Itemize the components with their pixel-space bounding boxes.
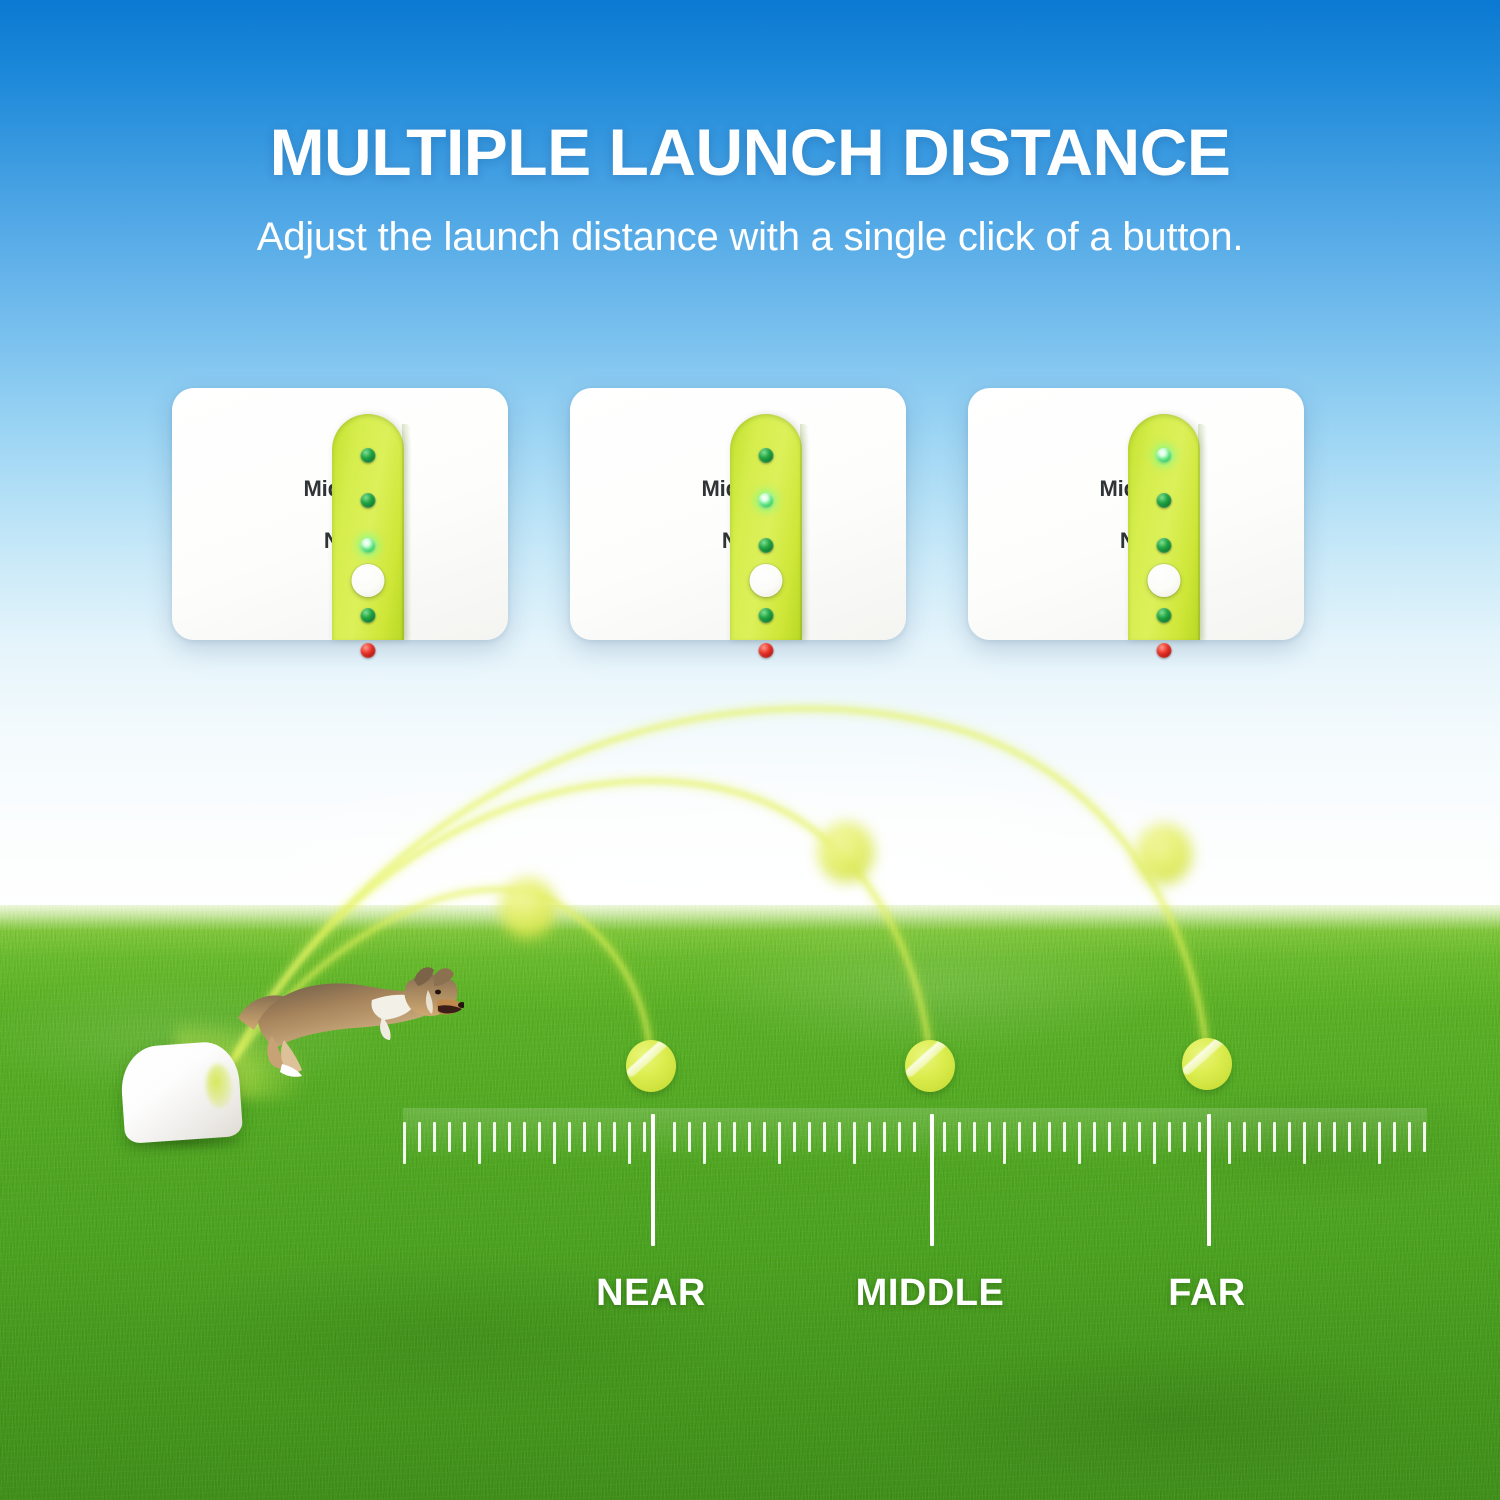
ruler-tick [883, 1122, 886, 1152]
ruler-tick [988, 1122, 991, 1152]
ruler-tick [703, 1122, 706, 1164]
distance-ruler: {"count":69,"step":15,"major":[17,35,54]… [403, 1108, 1427, 1248]
ball-in-flight-far [1136, 824, 1192, 884]
led-middle-indicator [361, 493, 376, 508]
led-strip [332, 414, 404, 640]
distance-label-middle: MIDDLE [856, 1272, 1005, 1315]
ruler-tick [973, 1122, 976, 1152]
ruler-major-tick [930, 1114, 934, 1246]
led-strip [1128, 414, 1200, 640]
landed-ball-middle [905, 1040, 955, 1092]
ruler-major-tick [1207, 1114, 1211, 1246]
ruler-tick [1228, 1122, 1231, 1164]
ruler-tick [1093, 1122, 1096, 1152]
ruler-tick [628, 1122, 631, 1164]
ruler-tick [778, 1122, 781, 1164]
ruler-tick [1018, 1122, 1021, 1152]
setting-cards-row: Far Middle Near Far Middle Near [172, 388, 1304, 640]
ruler-tick [853, 1122, 856, 1164]
ruler-tick [1108, 1122, 1111, 1152]
led-status-indicator [361, 608, 376, 623]
ruler-tick [583, 1122, 586, 1152]
led-far-indicator [1157, 448, 1172, 463]
landed-ball-far [1182, 1038, 1232, 1090]
ruler-tick [1078, 1122, 1081, 1164]
ruler-tick [523, 1122, 526, 1152]
ruler-tick [868, 1122, 871, 1152]
ruler-tick [1348, 1122, 1351, 1152]
ruler-tick [733, 1122, 736, 1152]
led-strip [730, 414, 802, 640]
ruler-tick [643, 1122, 646, 1152]
ruler-tick [898, 1122, 901, 1152]
ruler-tick [1033, 1122, 1036, 1152]
page-subtitle: Adjust the launch distance with a single… [0, 215, 1500, 260]
ruler-tick [1393, 1122, 1396, 1152]
ruler-tick [688, 1122, 691, 1152]
ruler-tick [943, 1122, 946, 1152]
dog-eye [435, 990, 441, 995]
page-title: MULTIPLE LAUNCH DISTANCE [0, 118, 1500, 187]
led-far-indicator [759, 448, 774, 463]
ruler-tick [568, 1122, 571, 1152]
ruler-tick [1243, 1122, 1246, 1152]
ruler-tick [1048, 1122, 1051, 1152]
ruler-tick [1003, 1122, 1006, 1164]
ruler-tick [1303, 1122, 1306, 1164]
ruler-tick [433, 1122, 436, 1152]
power-button[interactable] [352, 564, 385, 597]
led-middle-indicator [1157, 493, 1172, 508]
ruler-tick [478, 1122, 481, 1164]
ruler-tick [613, 1122, 616, 1152]
ruler-tick [1153, 1122, 1156, 1164]
led-near-indicator [759, 538, 774, 553]
led-far-indicator [361, 448, 376, 463]
distance-label-far: FAR [1168, 1272, 1246, 1315]
ruler-tick [958, 1122, 961, 1152]
ruler-tick [1318, 1122, 1321, 1152]
led-near-indicator [1157, 538, 1172, 553]
ball-in-flight-near [500, 878, 556, 938]
landed-ball-near [626, 1040, 676, 1092]
ball-in-flight-middle [818, 822, 874, 882]
ruler-tick [1423, 1122, 1426, 1152]
ruler-tick [493, 1122, 496, 1152]
ruler-tick [1378, 1122, 1381, 1164]
dog-illustration [232, 960, 464, 1080]
ruler-tick [1258, 1122, 1261, 1152]
ruler-tick [1273, 1122, 1276, 1152]
power-button[interactable] [750, 564, 783, 597]
ruler-tick [1288, 1122, 1291, 1152]
ruler-tick [1408, 1122, 1411, 1152]
ball-launcher-device[interactable] [122, 1040, 242, 1148]
ruler-tick [793, 1122, 796, 1152]
ruler-tick [1183, 1122, 1186, 1152]
ruler-tick [1363, 1122, 1366, 1152]
ruler-tick [913, 1122, 916, 1152]
ruler-tick [1138, 1122, 1141, 1152]
distance-label-near: NEAR [596, 1272, 706, 1315]
led-near-indicator [361, 538, 376, 553]
ruler-major-tick [651, 1114, 655, 1246]
ruler-tick [1168, 1122, 1171, 1152]
ruler-tick [418, 1122, 421, 1152]
ruler-tick [508, 1122, 511, 1152]
ruler-tick [1063, 1122, 1066, 1152]
ruler-tick [763, 1122, 766, 1152]
led-power-indicator [1157, 643, 1172, 658]
ruler-tick [403, 1122, 406, 1164]
ruler-tick [718, 1122, 721, 1152]
middle-setting-card[interactable]: Far Middle Near [570, 388, 906, 640]
ruler-tick [1198, 1122, 1201, 1152]
ruler-tick [463, 1122, 466, 1152]
power-button[interactable] [1148, 564, 1181, 597]
ruler-tick [748, 1122, 751, 1152]
led-status-indicator [1157, 608, 1172, 623]
ruler-tick [1333, 1122, 1336, 1152]
ruler-tick [808, 1122, 811, 1152]
led-power-indicator [759, 643, 774, 658]
ruler-tick [598, 1122, 601, 1152]
ruler-tick [1123, 1122, 1126, 1152]
ruler-tick [823, 1122, 826, 1152]
led-middle-indicator [759, 493, 774, 508]
ruler-tick [538, 1122, 541, 1152]
ruler-tick [448, 1122, 451, 1152]
led-power-indicator [361, 643, 376, 658]
far-setting-card[interactable]: Far Middle Near [968, 388, 1304, 640]
led-status-indicator [759, 608, 774, 623]
ruler-tick [553, 1122, 556, 1164]
grass-horizon-highlight [0, 905, 1500, 931]
near-setting-card[interactable]: Far Middle Near [172, 388, 508, 640]
ruler-tick [838, 1122, 841, 1152]
ruler-tick [673, 1122, 676, 1152]
